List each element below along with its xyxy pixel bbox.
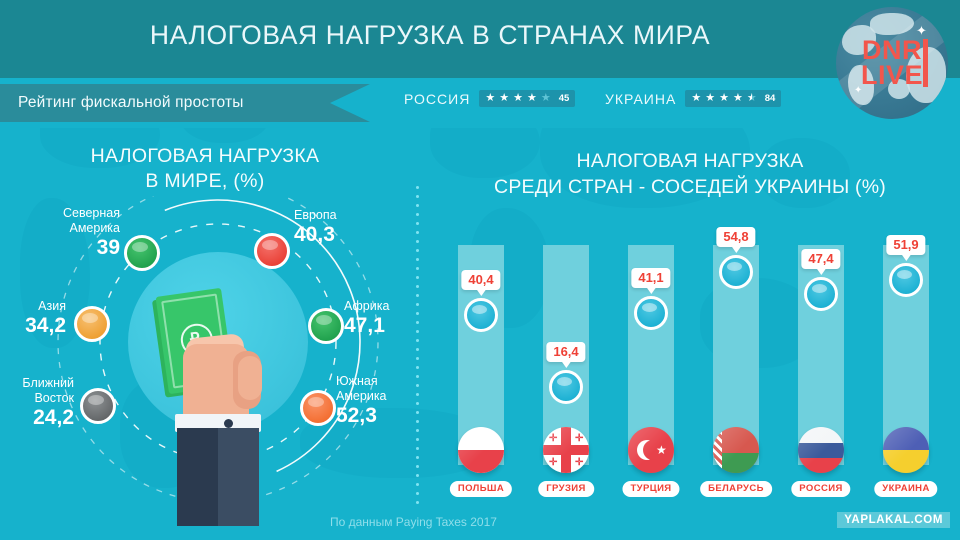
- region-name: Африка: [344, 299, 389, 313]
- divider-dot: [416, 312, 419, 315]
- country-label: ТУРЦИЯ: [622, 481, 679, 497]
- star-icon: ★: [513, 93, 523, 104]
- divider-dot: [416, 267, 419, 270]
- value-marker[interactable]: [464, 298, 498, 332]
- region-name: Северная Америка: [63, 206, 120, 235]
- divider-dot: [416, 339, 419, 342]
- divider-dot: [416, 294, 419, 297]
- divider-dot: [416, 402, 419, 405]
- star-icon: ★: [527, 93, 537, 104]
- cuff-button-icon: [224, 419, 233, 428]
- value-callout: 54,8: [716, 227, 755, 247]
- rating-ukraine: УКРАИНА ★ ★ ★ ★ ★ 84: [605, 90, 781, 107]
- dnr-live-logo[interactable]: ✦ ✦ DNR LIVE: [836, 7, 948, 119]
- divider-dot: [416, 249, 419, 252]
- source-note: По данным Paying Taxes 2017: [330, 515, 497, 529]
- region-value: 34,2: [0, 314, 66, 337]
- divider-dot: [416, 258, 419, 261]
- flag-icon-2[interactable]: ✛✛✛✛: [543, 427, 589, 473]
- value-marker[interactable]: [804, 277, 838, 311]
- divider-dot: [416, 411, 419, 414]
- star-icon: ★: [499, 93, 509, 104]
- country-label: БЕЛАРУСЬ: [700, 481, 772, 497]
- value-marker[interactable]: [634, 296, 668, 330]
- rating-score: 45: [559, 93, 570, 104]
- world-tax-burden-diagram: ₽ Северная Америка 39 Европа 40,3 Азия 3…: [0, 196, 412, 526]
- right-title-line2: СРЕДИ СТРАН - СОСЕДЕЙ УКРАИНЫ (%): [420, 174, 960, 200]
- divider-dot: [416, 501, 419, 504]
- rating-score: 84: [765, 93, 776, 104]
- divider-dot: [416, 474, 419, 477]
- logo-line2: LIVE: [861, 63, 923, 88]
- flag-icon-5[interactable]: [798, 427, 844, 473]
- page-title: НАЛОГОВАЯ НАГРУЗКА В СТРАНАХ МИРА: [0, 20, 860, 51]
- flag-icon-3[interactable]: ★: [628, 427, 674, 473]
- divider-dot: [416, 393, 419, 396]
- right-title-line1: НАЛОГОВАЯ НАГРУЗКА: [420, 148, 960, 174]
- star-icon: ★: [719, 93, 729, 104]
- region-label-middle-east: Ближний Восток 24,2: [0, 376, 74, 429]
- divider-dot: [416, 348, 419, 351]
- divider-dot: [416, 420, 419, 423]
- country-label: ПОЛЬША: [450, 481, 512, 497]
- watermark: YAPLAKAL.COM: [837, 512, 950, 528]
- divider-dot: [416, 366, 419, 369]
- region-value: 24,2: [0, 406, 74, 429]
- divider-dot: [416, 240, 419, 243]
- divider-dot: [416, 195, 419, 198]
- region-node-asia[interactable]: [74, 306, 110, 342]
- rating-stars-box: ★ ★ ★ ★ ★ 45: [479, 90, 575, 107]
- divider-dot: [416, 285, 419, 288]
- divider-dot: [416, 276, 419, 279]
- divider-dot: [416, 456, 419, 459]
- region-node-middle-east[interactable]: [80, 388, 116, 424]
- divider-dot: [416, 447, 419, 450]
- region-label-africa: Африка 47,1: [344, 299, 412, 337]
- star-icon: ★: [485, 93, 495, 104]
- left-chart-title: НАЛОГОВАЯ НАГРУЗКА В МИРЕ, (%): [0, 144, 410, 194]
- value-marker[interactable]: [719, 255, 753, 289]
- divider-dot: [416, 213, 419, 216]
- left-title-line2: В МИРЕ, (%): [0, 169, 410, 194]
- ribbon-label: Рейтинг фискальной простоты: [0, 94, 244, 112]
- divider-dot: [416, 384, 419, 387]
- right-chart-title: НАЛОГОВАЯ НАГРУЗКА СРЕДИ СТРАН - СОСЕДЕЙ…: [420, 148, 960, 200]
- divider-dot: [416, 204, 419, 207]
- region-name: Европа: [294, 208, 337, 222]
- divider-dot: [416, 321, 419, 324]
- region-value: 52,3: [336, 404, 412, 427]
- infographic-canvas: НАЛОГОВАЯ НАГРУЗКА В СТРАНАХ МИРА Рейтин…: [0, 0, 960, 540]
- region-label-south-america: Южная Америка 52,3: [336, 374, 412, 427]
- logo-accent-bar: [923, 39, 928, 87]
- value-callout: 16,4: [546, 342, 585, 362]
- region-label-europe: Европа 40,3: [294, 208, 404, 246]
- flag-icon-1[interactable]: [458, 427, 504, 473]
- country-label: РОССИЯ: [791, 481, 850, 497]
- flag-icon-6[interactable]: [883, 427, 929, 473]
- divider-dot: [416, 303, 419, 306]
- value-callout: 41,1: [631, 268, 670, 288]
- region-node-europe[interactable]: [254, 233, 290, 269]
- panel-divider: [416, 186, 419, 502]
- divider-dot: [416, 438, 419, 441]
- region-value: 39: [16, 236, 120, 259]
- region-name: Ближний Восток: [22, 376, 74, 405]
- divider-dot: [416, 222, 419, 225]
- star-icon: ★: [705, 93, 715, 104]
- rating-russia: РОССИЯ ★ ★ ★ ★ ★ 45: [404, 90, 575, 107]
- divider-dot: [416, 186, 419, 189]
- divider-dot: [416, 231, 419, 234]
- rating-country-label: РОССИЯ: [404, 91, 470, 107]
- region-name: Азия: [38, 299, 66, 313]
- region-label-asia: Азия 34,2: [0, 299, 66, 337]
- rating-stars-box: ★ ★ ★ ★ ★ 84: [685, 90, 781, 107]
- divider-dot: [416, 357, 419, 360]
- region-node-north-america[interactable]: [124, 235, 160, 271]
- value-callout: 40,4: [461, 270, 500, 290]
- divider-dot: [416, 483, 419, 486]
- country-label: УКРАИНА: [874, 481, 937, 497]
- divider-dot: [416, 330, 419, 333]
- region-node-africa[interactable]: [308, 308, 344, 344]
- ribbon-banner: Рейтинг фискальной простоты: [0, 84, 370, 122]
- star-icon: ★: [733, 93, 743, 104]
- divider-dot: [416, 465, 419, 468]
- rating-country-label: УКРАИНА: [605, 91, 676, 107]
- value-callout: 47,4: [801, 249, 840, 269]
- flag-icon-4[interactable]: [713, 427, 759, 473]
- divider-dot: [416, 375, 419, 378]
- divider-dot: [416, 492, 419, 495]
- region-node-south-america[interactable]: [300, 390, 336, 426]
- star-icon: ★: [691, 93, 701, 104]
- region-name: Южная Америка: [336, 374, 387, 403]
- value-callout: 51,9: [886, 235, 925, 255]
- value-marker[interactable]: [549, 370, 583, 404]
- left-title-line1: НАЛОГОВАЯ НАГРУЗКА: [0, 144, 410, 169]
- star-half-icon: ★: [747, 93, 757, 104]
- divider-dot: [416, 429, 419, 432]
- region-value: 47,1: [344, 314, 412, 337]
- country-label: ГРУЗИЯ: [538, 481, 594, 497]
- star-empty-icon: ★: [541, 93, 551, 104]
- suit-sleeve-shade: [218, 428, 259, 526]
- hand-thumb: [238, 356, 262, 400]
- region-value: 40,3: [294, 223, 404, 246]
- region-label-north-america: Северная Америка 39: [16, 206, 120, 259]
